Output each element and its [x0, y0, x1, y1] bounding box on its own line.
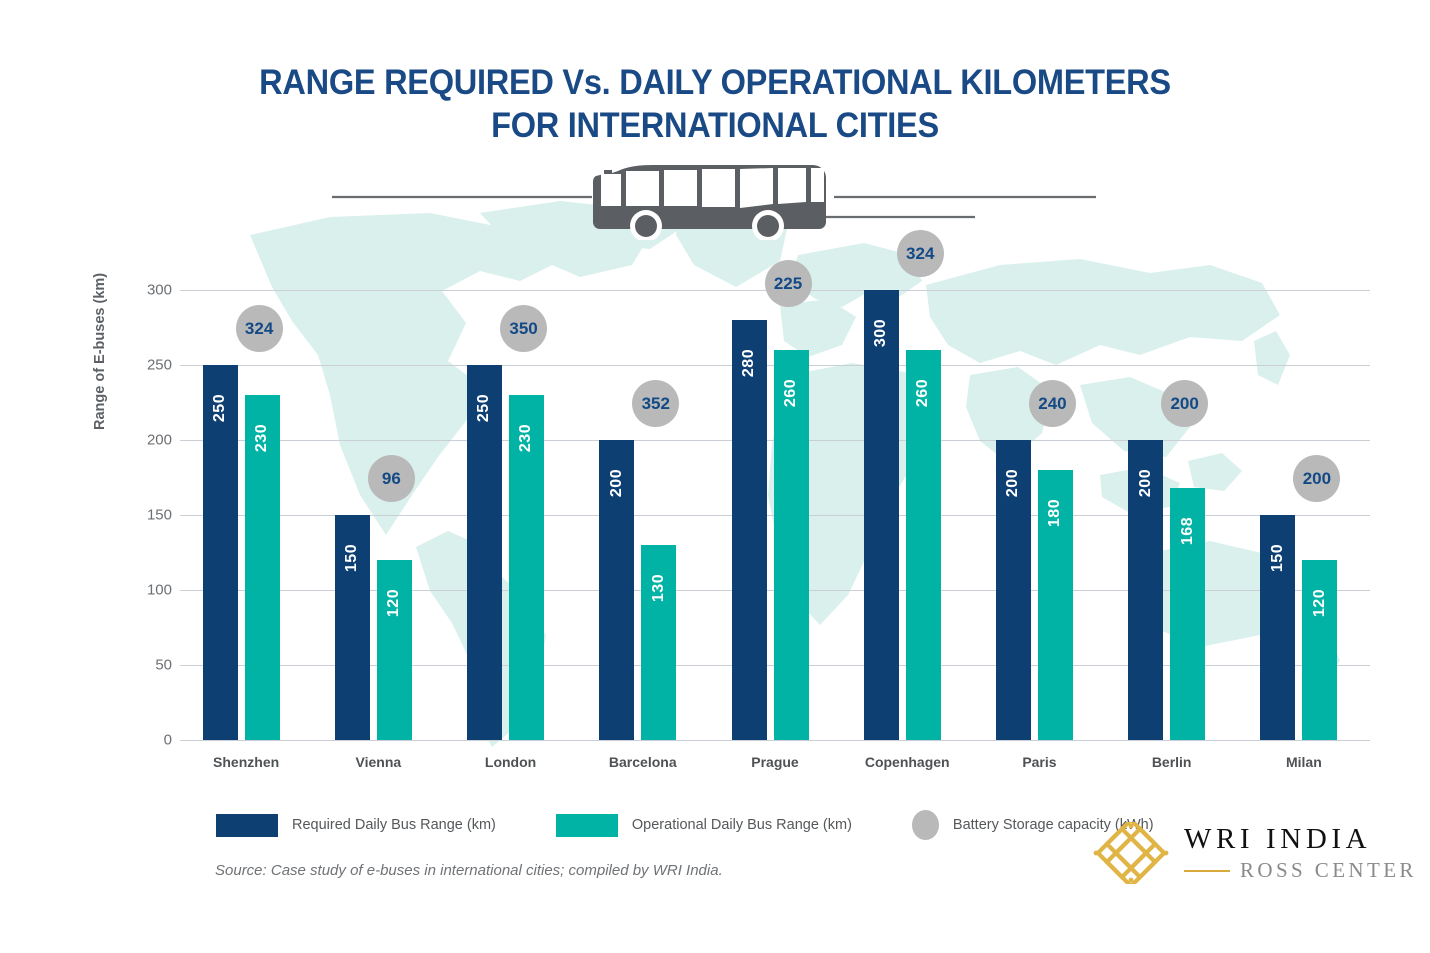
y-axis-tick-150: 150 — [147, 507, 172, 524]
bar-operational-berlin[interactable]: 168 — [1170, 488, 1205, 740]
x-axis-label-barcelona: Barcelona — [577, 754, 709, 770]
x-axis-label-berlin: Berlin — [1106, 754, 1238, 770]
bar-value-label: 280 — [740, 349, 758, 377]
y-axis-tick-0: 0 — [164, 732, 172, 749]
x-axis-label-prague: Prague — [709, 754, 841, 770]
wri-knot-icon — [1092, 822, 1170, 884]
bar-value-label: 260 — [914, 379, 932, 407]
legend-dot-battery — [912, 810, 939, 840]
bar-required-paris[interactable]: 200 — [996, 440, 1031, 740]
bar-required-copenhagen[interactable]: 300 — [864, 290, 899, 740]
gridline-0 — [180, 740, 1370, 741]
bar-value-label: 120 — [385, 589, 403, 617]
bar-required-london[interactable]: 250 — [467, 365, 502, 740]
bar-value-label: 230 — [253, 424, 271, 452]
legend-item-operational[interactable]: Operational Daily Bus Range (km) — [556, 814, 852, 837]
logo-sub-text: ROSS CENTER — [1240, 858, 1417, 883]
bar-value-label: 130 — [650, 574, 668, 602]
bar-operational-prague[interactable]: 260 — [774, 350, 809, 740]
bar-group-barcelona: 200130 — [599, 240, 676, 740]
bar-operational-barcelona[interactable]: 130 — [641, 545, 676, 740]
bar-value-label: 260 — [782, 379, 800, 407]
bus-icon — [593, 165, 826, 240]
bar-group-prague: 280260 — [732, 240, 809, 740]
bar-required-prague[interactable]: 280 — [732, 320, 767, 740]
legend-label-operational: Operational Daily Bus Range (km) — [632, 817, 852, 833]
y-axis-tick-50: 50 — [155, 657, 172, 674]
x-axis-label-shenzhen: Shenzhen — [180, 754, 312, 770]
bar-value-label: 200 — [1004, 469, 1022, 497]
plot-canvas: 050100150200250300250230324Shenzhen15012… — [180, 240, 1370, 740]
bar-required-barcelona[interactable]: 200 — [599, 440, 634, 740]
bar-value-label: 250 — [476, 394, 494, 422]
bar-required-vienna[interactable]: 150 — [335, 515, 370, 740]
battery-bubble-copenhagen[interactable]: 324 — [897, 230, 944, 277]
x-axis-label-copenhagen: Copenhagen — [841, 754, 973, 770]
legend-swatch-operational — [556, 814, 618, 837]
bar-operational-london[interactable]: 230 — [509, 395, 544, 740]
y-axis-tick-200: 200 — [147, 432, 172, 449]
bus-illustration — [0, 160, 1430, 240]
bar-value-label: 250 — [211, 394, 229, 422]
x-axis-label-milan: Milan — [1238, 754, 1370, 770]
bar-operational-paris[interactable]: 180 — [1038, 470, 1073, 740]
x-axis-label-vienna: Vienna — [312, 754, 444, 770]
legend-item-required[interactable]: Required Daily Bus Range (km) — [216, 814, 496, 837]
bar-value-label: 180 — [1046, 499, 1064, 527]
bar-value-label: 120 — [1311, 589, 1329, 617]
logo-main-text: WRI INDIA — [1184, 823, 1417, 856]
chart-title-line-2: FOR INTERNATIONAL CITIES — [50, 105, 1380, 148]
legend-label-required: Required Daily Bus Range (km) — [292, 817, 496, 833]
battery-bubble-shenzhen[interactable]: 324 — [236, 305, 283, 352]
bar-required-berlin[interactable]: 200 — [1128, 440, 1163, 740]
bar-group-copenhagen: 300260 — [864, 240, 941, 740]
y-axis-tick-100: 100 — [147, 582, 172, 599]
bar-value-label: 200 — [608, 469, 626, 497]
battery-bubble-london[interactable]: 350 — [500, 305, 547, 352]
x-axis-label-london: London — [444, 754, 576, 770]
chart-title: RANGE REQUIRED Vs. DAILY OPERATIONAL KIL… — [0, 62, 1430, 147]
bar-value-label: 200 — [1137, 469, 1155, 497]
x-axis-label-paris: Paris — [973, 754, 1105, 770]
bar-required-milan[interactable]: 150 — [1260, 515, 1295, 740]
bar-operational-shenzhen[interactable]: 230 — [245, 395, 280, 740]
wri-india-logo: WRI INDIA ROSS CENTER — [1092, 822, 1417, 884]
chart-plot-area: 050100150200250300250230324Shenzhen15012… — [180, 240, 1370, 740]
bar-operational-copenhagen[interactable]: 260 — [906, 350, 941, 740]
bar-value-label: 150 — [343, 544, 361, 572]
source-note: Source: Case study of e-buses in interna… — [215, 862, 723, 879]
bar-value-label: 168 — [1179, 517, 1197, 545]
bar-required-shenzhen[interactable]: 250 — [203, 365, 238, 740]
bar-group-paris: 200180 — [996, 240, 1073, 740]
logo-rule — [1184, 870, 1230, 872]
logo-sub-row: ROSS CENTER — [1184, 858, 1417, 883]
bar-value-label: 300 — [872, 319, 890, 347]
y-axis-title: Range of E-buses (km) — [92, 273, 108, 430]
battery-bubble-prague[interactable]: 225 — [765, 260, 812, 307]
battery-bubble-barcelona[interactable]: 352 — [632, 380, 679, 427]
battery-bubble-berlin[interactable]: 200 — [1161, 380, 1208, 427]
bar-operational-vienna[interactable]: 120 — [377, 560, 412, 740]
bar-value-label: 230 — [518, 424, 536, 452]
y-axis-tick-300: 300 — [147, 282, 172, 299]
y-axis-tick-250: 250 — [147, 357, 172, 374]
battery-bubble-paris[interactable]: 240 — [1029, 380, 1076, 427]
logo-text-block: WRI INDIA ROSS CENTER — [1184, 823, 1417, 883]
battery-bubble-vienna[interactable]: 96 — [368, 455, 415, 502]
legend-swatch-required — [216, 814, 278, 837]
chart-title-line-1: RANGE REQUIRED Vs. DAILY OPERATIONAL KIL… — [50, 62, 1380, 105]
bar-operational-milan[interactable]: 120 — [1302, 560, 1337, 740]
bar-group-berlin: 200168 — [1128, 240, 1205, 740]
chart-legend: Required Daily Bus Range (km) Operationa… — [216, 810, 1154, 840]
bar-value-label: 150 — [1269, 544, 1287, 572]
